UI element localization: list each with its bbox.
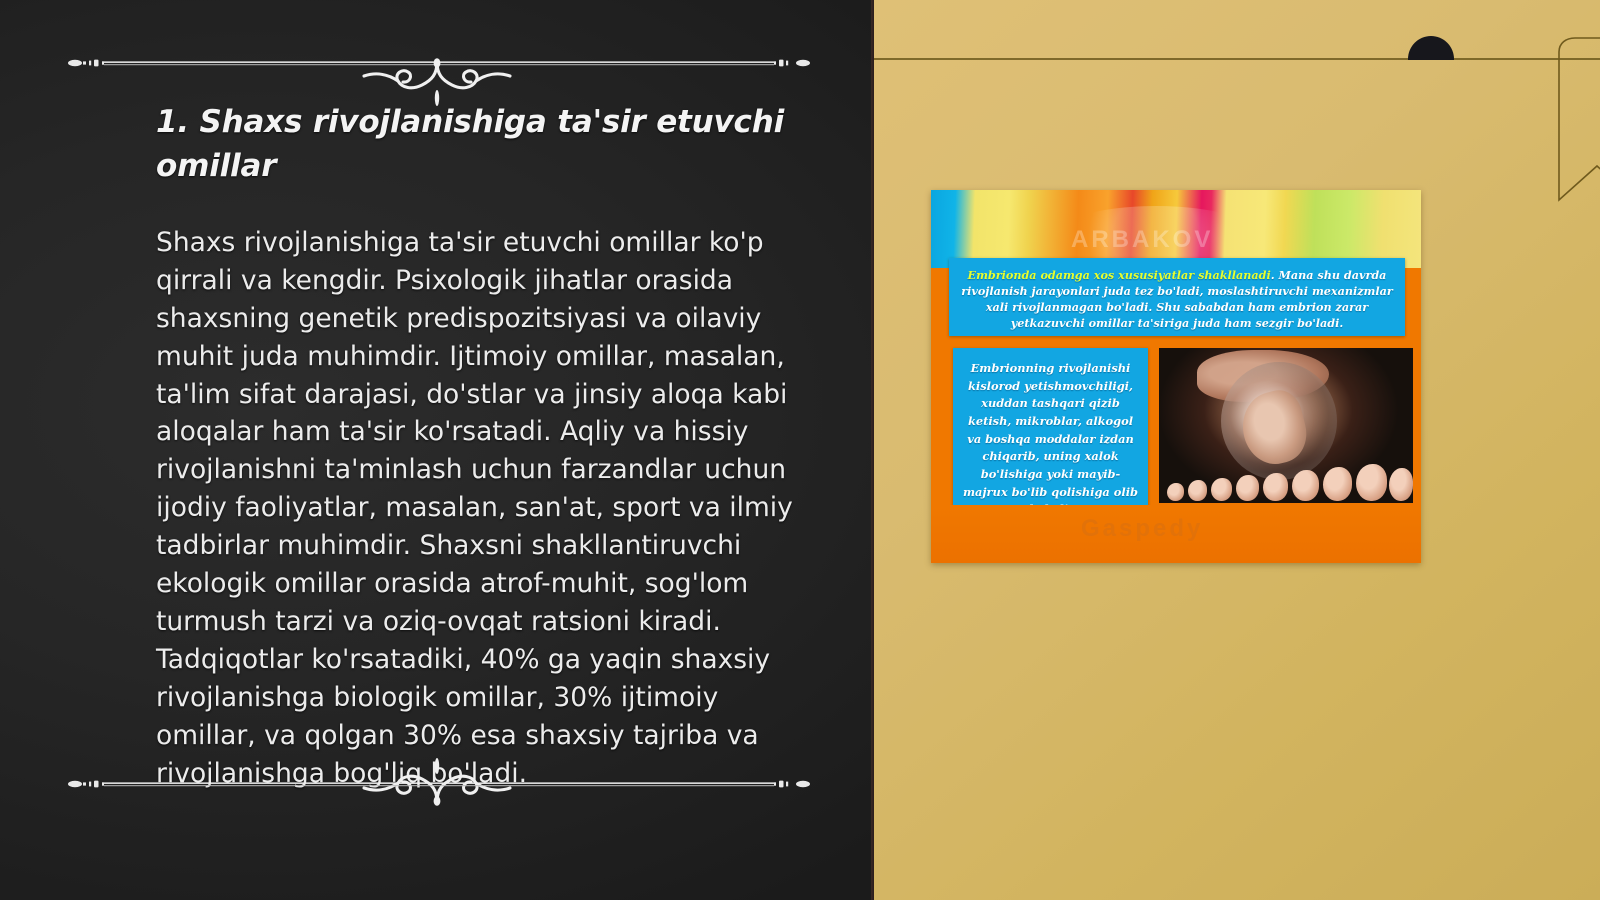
stage-item	[1188, 480, 1207, 501]
stage-item	[1167, 483, 1184, 501]
embryo-stage-row	[1161, 457, 1413, 501]
horizontal-hairline	[874, 58, 1600, 60]
stage-item	[1211, 478, 1232, 501]
caption-top-highlight: Embrionda odamga xos xususiyatlar shakll…	[968, 268, 1271, 282]
watermark-top: ARBAKOV	[1071, 226, 1213, 254]
stage-item	[1323, 467, 1352, 501]
stage-item	[1389, 468, 1413, 501]
top-ornamental-divider	[68, 56, 810, 70]
caption-top: Embrionda odamga xos xususiyatlar shakll…	[949, 258, 1405, 336]
watermark-bottom: Gaspedy	[1081, 515, 1203, 543]
presentation-slide: 1. Shaxs rivojlanishiga ta'sir etuvchi o…	[0, 0, 1600, 900]
stage-item	[1263, 473, 1288, 501]
bookmark-ribbon-icon	[1557, 36, 1600, 202]
stage-item	[1292, 470, 1319, 501]
slide-content: 1. Shaxs rivojlanishiga ta'sir etuvchi o…	[156, 100, 828, 792]
slide-image-card: ARBAKOV Embrionda odamga xos xususiyatla…	[931, 190, 1421, 563]
stage-item	[1356, 464, 1387, 501]
right-image-panel: ARBAKOV Embrionda odamga xos xususiyatla…	[874, 0, 1600, 900]
page-title: 1. Shaxs rivojlanishiga ta'sir etuvchi o…	[156, 100, 796, 188]
caption-left: Embrionning rivojlanishi kislorod yetish…	[953, 348, 1148, 526]
left-text-panel: 1. Shaxs rivojlanishiga ta'sir etuvchi o…	[0, 0, 874, 900]
stage-item	[1236, 475, 1259, 501]
body-paragraph: Shaxs rivojlanishiga ta'sir etuvchi omil…	[156, 224, 824, 792]
embryo-photo	[1159, 348, 1413, 503]
